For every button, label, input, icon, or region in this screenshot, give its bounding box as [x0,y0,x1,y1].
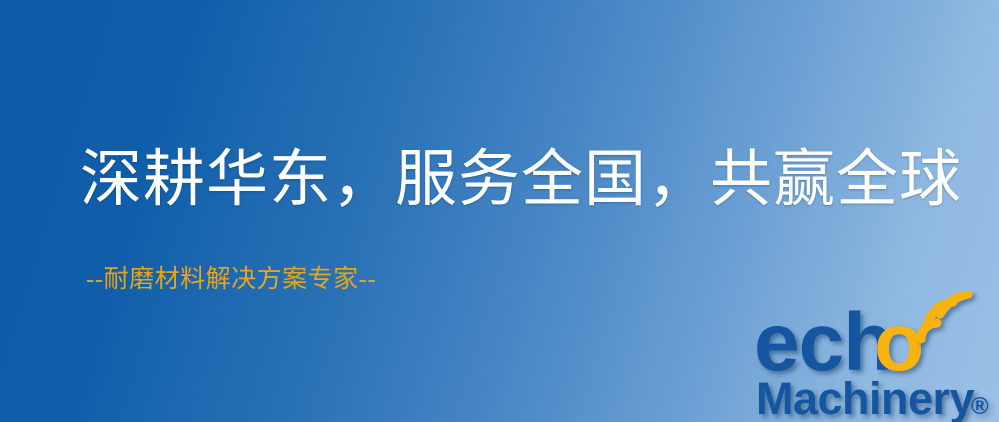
banner-headline: 深耕华东，服务全国，共赢全球 [80,148,960,213]
logo-signal-waves-group [921,294,968,339]
banner-subtitle: --耐磨材料解决方案专家-- [86,266,376,294]
logo-registered-trademark-icon: ® [971,393,989,420]
logo-tagline-group: Machinery ® [756,373,989,422]
logo-tagline-machinery: Machinery [756,373,975,422]
echo-machinery-logo: ech o Machinery ® [752,292,999,422]
promotional-banner: 深耕华东，服务全国，共赢全球 --耐磨材料解决方案专家-- ech o [0,0,999,422]
signal-wave-arc-3-icon [940,294,968,314]
